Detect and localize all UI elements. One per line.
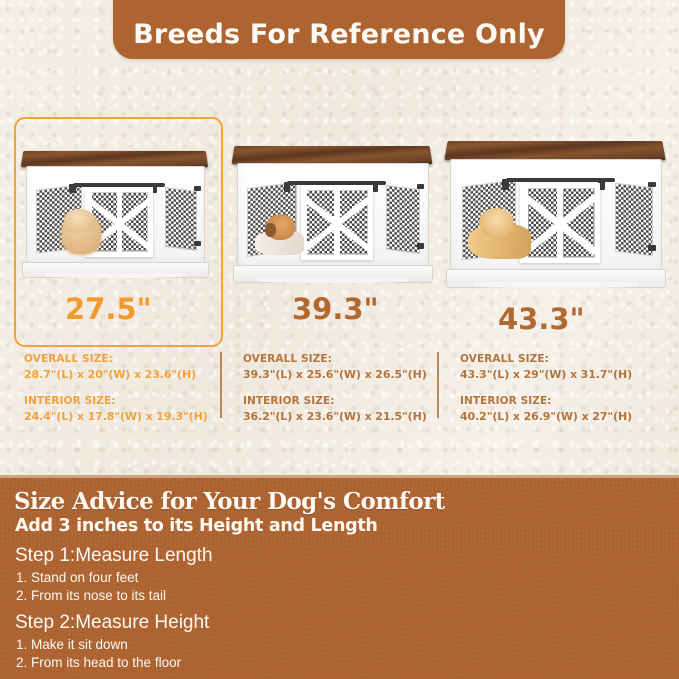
crate-door-stile-center xyxy=(557,185,563,261)
advice-subheading: Add 3 inches to its Height and Length xyxy=(15,516,378,536)
spec-overall-title: OVERALL SIZE: xyxy=(24,352,208,367)
crate-wood-top xyxy=(21,151,208,168)
banner-title: Breeds For Reference Only xyxy=(133,19,545,59)
product-image-large[interactable] xyxy=(446,140,664,290)
crate-base-plinth xyxy=(22,262,209,278)
dog-toy-poodle-head xyxy=(64,209,94,233)
product-image-medium[interactable] xyxy=(233,145,431,285)
spec-block-small: OVERALL SIZE: 28.7"(L) x 20"(W) x 23.6"(… xyxy=(24,352,208,425)
step2-title: Step 2:Measure Height xyxy=(15,612,209,634)
crate-hinge-top xyxy=(194,186,201,191)
crate-hinge-top xyxy=(417,184,425,189)
spec-interior-title: INTERIOR SIZE: xyxy=(460,394,632,409)
advice-heading: Size Advice for Your Dog's Comfort xyxy=(14,488,445,515)
step2-item-2: 2. From its head to the floor xyxy=(16,655,181,670)
step2-item-1: 1. Make it sit down xyxy=(16,637,128,652)
crate-rail-bracket-left xyxy=(502,179,509,189)
crate-hinge-top xyxy=(648,182,656,188)
step1-title: Step 1:Measure Length xyxy=(15,545,213,567)
crate-base-plinth xyxy=(233,265,433,282)
size-advice-panel: Size Advice for Your Dog's Comfort Add 3… xyxy=(0,475,679,679)
crate-right-mesh-panel xyxy=(615,183,653,257)
crate-hinge-bottom xyxy=(194,241,201,246)
crate-rail-bracket-left xyxy=(284,182,291,192)
crate-rail-bracket-left xyxy=(69,184,75,193)
spec-interior-value: 36.2"(L) x 23.6"(W) x 21.5"(H) xyxy=(243,409,427,425)
crate-body xyxy=(26,166,206,268)
spec-overall-value: 43.3"(L) x 29"(W) x 31.7"(H) xyxy=(460,367,632,383)
spec-interior-value: 24.4"(L) x 17.8"(W) x 19.3"(H) xyxy=(24,409,208,425)
spec-overall-value: 28.7"(L) x 20"(W) x 23.6"(H) xyxy=(24,367,208,383)
crate-door-stile-center xyxy=(117,189,122,255)
crate-right-mesh-panel xyxy=(386,185,420,254)
header-banner: Breeds For Reference Only xyxy=(113,0,565,59)
spec-divider-1 xyxy=(220,352,222,418)
spec-divider-2 xyxy=(437,352,439,418)
crate-base-plinth xyxy=(446,269,666,288)
crate-barn-door[interactable] xyxy=(520,183,599,263)
dog-golden-head-fill xyxy=(479,208,515,238)
crate-hinge-bottom xyxy=(417,243,425,248)
spec-block-medium: OVERALL SIZE: 39.3"(L) x 25.6"(W) x 26.5… xyxy=(243,352,427,425)
step1-item-2: 2. From its nose to its tail xyxy=(16,588,166,603)
step1-item-1: 1. Stand on four feet xyxy=(16,570,138,585)
size-label-small: 27.5" xyxy=(65,292,152,326)
crate-body xyxy=(450,159,661,277)
spec-block-large: OVERALL SIZE: 43.3"(L) x 29"(W) x 31.7"(… xyxy=(460,352,632,425)
size-label-large: 43.3" xyxy=(498,302,585,336)
size-label-medium: 39.3" xyxy=(292,292,379,326)
spec-interior-title: INTERIOR SIZE: xyxy=(243,394,427,409)
crate-barn-door[interactable] xyxy=(301,185,373,260)
spec-overall-value: 39.3"(L) x 25.6"(W) x 26.5"(H) xyxy=(243,367,427,383)
dog-beagle-ear xyxy=(265,223,276,237)
panel-top-divider xyxy=(0,475,679,478)
spec-interior-value: 40.2"(L) x 26.9"(W) x 27"(H) xyxy=(460,409,632,425)
crate-wood-top xyxy=(444,141,665,160)
crate-hinge-bottom xyxy=(648,245,656,251)
spec-overall-title: OVERALL SIZE: xyxy=(243,352,427,367)
crate-body xyxy=(237,163,429,273)
spec-interior-title: INTERIOR SIZE: xyxy=(24,394,208,409)
crate-right-mesh-panel xyxy=(165,187,197,251)
crate-door-stile-center xyxy=(334,187,339,258)
spec-overall-title: OVERALL SIZE: xyxy=(460,352,632,367)
crate-wood-top xyxy=(232,146,433,164)
infographic-stage: Breeds For Reference Only xyxy=(0,0,679,679)
product-image-small[interactable] xyxy=(22,150,207,280)
